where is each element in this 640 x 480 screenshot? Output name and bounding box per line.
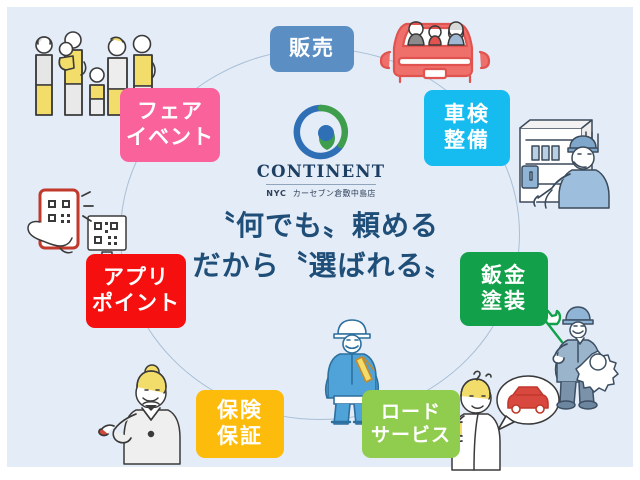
brand-logo-block: CONTINENT NYCカーセブン倉敷中島店	[255, 104, 387, 200]
service-chip-inspection-line-1: 車検	[444, 102, 490, 128]
logo-store-line: NYCカーセブン倉敷中島店	[266, 184, 375, 199]
service-chip-insurance-line-2: 保証	[217, 424, 263, 450]
logo-store-name: カーセブン倉敷中島店	[293, 189, 376, 198]
service-chip-app-points-line-1: アプリ	[103, 265, 169, 291]
service-chip-bodywork-line-1: 鈑金	[481, 263, 527, 289]
service-chip-bodywork[interactable]: 鈑金 塗装	[460, 252, 548, 326]
service-chip-road-service[interactable]: ロード サービス	[362, 390, 460, 458]
mechanic-at-tool-cabinet-illustration	[512, 110, 632, 208]
service-chip-insurance[interactable]: 保険 保証	[196, 390, 284, 458]
service-chip-fair-event-line-1: フェア	[137, 99, 203, 125]
service-chip-road-service-line-1: ロード	[381, 401, 441, 424]
service-chip-fair-event[interactable]: フェア イベント	[120, 88, 220, 162]
headline-line-1: 〝何でも〟頼める	[207, 209, 439, 242]
service-chip-inspection-line-2: 整備	[444, 128, 490, 154]
service-chip-road-service-line-2: サービス	[371, 424, 451, 447]
headline-line-2: だから〝選ばれる〟	[178, 246, 468, 286]
hand-scanning-qr-code-on-phone-illustration	[28, 180, 138, 262]
logo-wordmark: CONTINENT	[255, 162, 387, 181]
service-chip-bodywork-line-2: 塗装	[481, 289, 527, 315]
headline: 〝何でも〟頼める だから〝選ばれる〟	[178, 206, 468, 286]
logo-store-code: NYC	[266, 189, 286, 198]
worried-caller-with-car-bubble-illustration	[448, 364, 560, 470]
service-chip-inspection[interactable]: 車検 整備	[424, 90, 510, 166]
service-chip-app-points[interactable]: アプリ ポイント	[86, 254, 186, 328]
service-chip-app-points-line-2: ポイント	[92, 291, 180, 317]
screenshot-canvas: CONTINENT NYCカーセブン倉敷中島店 〝何でも〟頼める だから〝選ばれ…	[0, 0, 640, 480]
family-in-red-car-illustration	[372, 12, 498, 92]
service-chip-insurance-line-1: 保険	[217, 398, 263, 424]
service-chip-sales-line-1: 販売	[289, 36, 335, 62]
service-chip-sales[interactable]: 販売	[270, 26, 354, 72]
technician-with-wrench-and-gear-illustration	[548, 302, 634, 410]
continent-swoosh-logo-icon	[293, 104, 349, 160]
staff-woman-presenting-illustration	[98, 360, 190, 464]
illustration-stage: CONTINENT NYCカーセブン倉敷中島店 〝何でも〟頼める だから〝選ばれ…	[0, 0, 640, 480]
service-chip-fair-event-line-2: イベント	[126, 125, 214, 151]
